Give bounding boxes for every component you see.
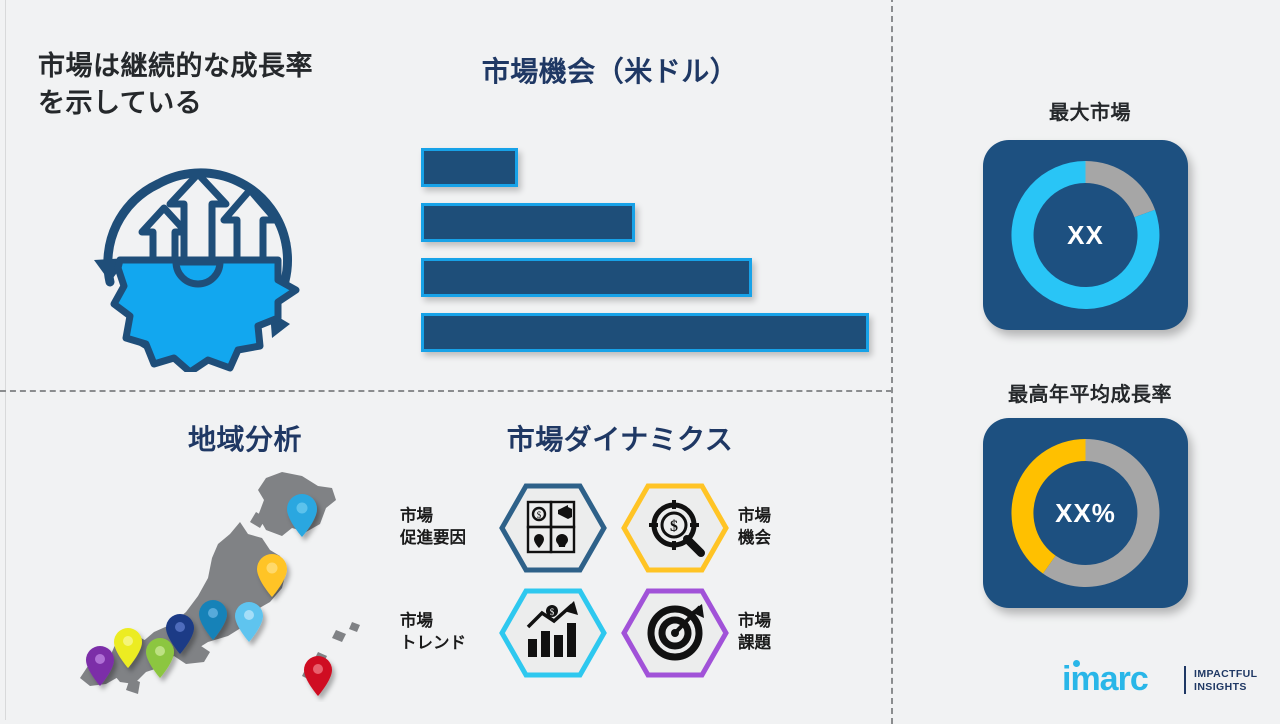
target-dart-icon — [620, 587, 730, 679]
market-opportunity-title: 市場機会（米ドル） — [400, 50, 820, 90]
pin-kansai — [235, 602, 263, 642]
largest-market-value: XX — [983, 140, 1188, 330]
largest-market-title: 最大市場 — [960, 96, 1220, 125]
market-opportunity-bar-chart — [421, 148, 881, 348]
highest-cagr-title: 最高年平均成長率 — [950, 378, 1230, 407]
vertical-dashed-divider — [891, 0, 893, 724]
growth-title: 市場は継続的な成長率 を示している — [38, 48, 388, 123]
bar-1 — [421, 148, 518, 187]
svg-text:$: $ — [550, 607, 555, 617]
dynamics-item-challenges[interactable]: 市場 課題 — [620, 583, 840, 683]
pin-chugoku — [146, 638, 174, 678]
bar-3 — [421, 258, 752, 297]
logo-divider — [1184, 666, 1186, 694]
dynamics-item-drivers[interactable]: 市場 促進要因 $ — [400, 478, 620, 578]
pin-hokkaido — [287, 494, 317, 537]
japan-map — [60, 462, 390, 702]
horizontal-dashed-divider — [0, 390, 892, 392]
highest-cagr-value: XX% — [983, 418, 1188, 608]
left-edge-rule — [5, 0, 6, 720]
market-dynamics-grid: 市場 促進要因 $ — [400, 478, 840, 688]
logo-tagline: IMPACTFUL INSIGHTS — [1194, 668, 1257, 695]
dynamics-label-trends: 市場 トレンド — [400, 611, 498, 655]
dynamics-item-trends[interactable]: 市場 トレンド $ — [400, 583, 620, 683]
imarc-logo: imarc IMPACTFUL INSIGHTS — [1062, 660, 1262, 704]
dynamics-item-opportunities[interactable]: $ 市場 機会 — [620, 478, 840, 578]
growth-bar-chart-icon: $ — [498, 587, 608, 679]
bar-4 — [421, 313, 869, 352]
magnifier-dollar-icon: $ — [620, 482, 730, 574]
growth-cycle-gear-icon: $ — [72, 132, 322, 372]
slide-canvas: 市場は継続的な成長率 を示している $ 市場機会（米ドル） — [0, 0, 1280, 720]
svg-text:$: $ — [670, 518, 678, 535]
bar-2 — [421, 203, 635, 242]
highest-cagr-donut-card: XX% — [983, 418, 1188, 608]
logo-wordmark: imarc — [1062, 662, 1148, 696]
dynamics-label-drivers: 市場 促進要因 — [400, 506, 498, 550]
largest-market-donut-card: XX — [983, 140, 1188, 330]
pin-okinawa — [304, 656, 332, 696]
dynamics-label-opportunities: 市場 機会 — [738, 506, 836, 550]
regional-analysis-title: 地域分析 — [110, 418, 380, 458]
dynamics-label-challenges: 市場 課題 — [738, 611, 836, 655]
puzzle-pieces-icon: $ — [498, 482, 608, 574]
market-dynamics-title: 市場ダイナミクス — [400, 418, 840, 458]
svg-text:$: $ — [537, 510, 542, 520]
